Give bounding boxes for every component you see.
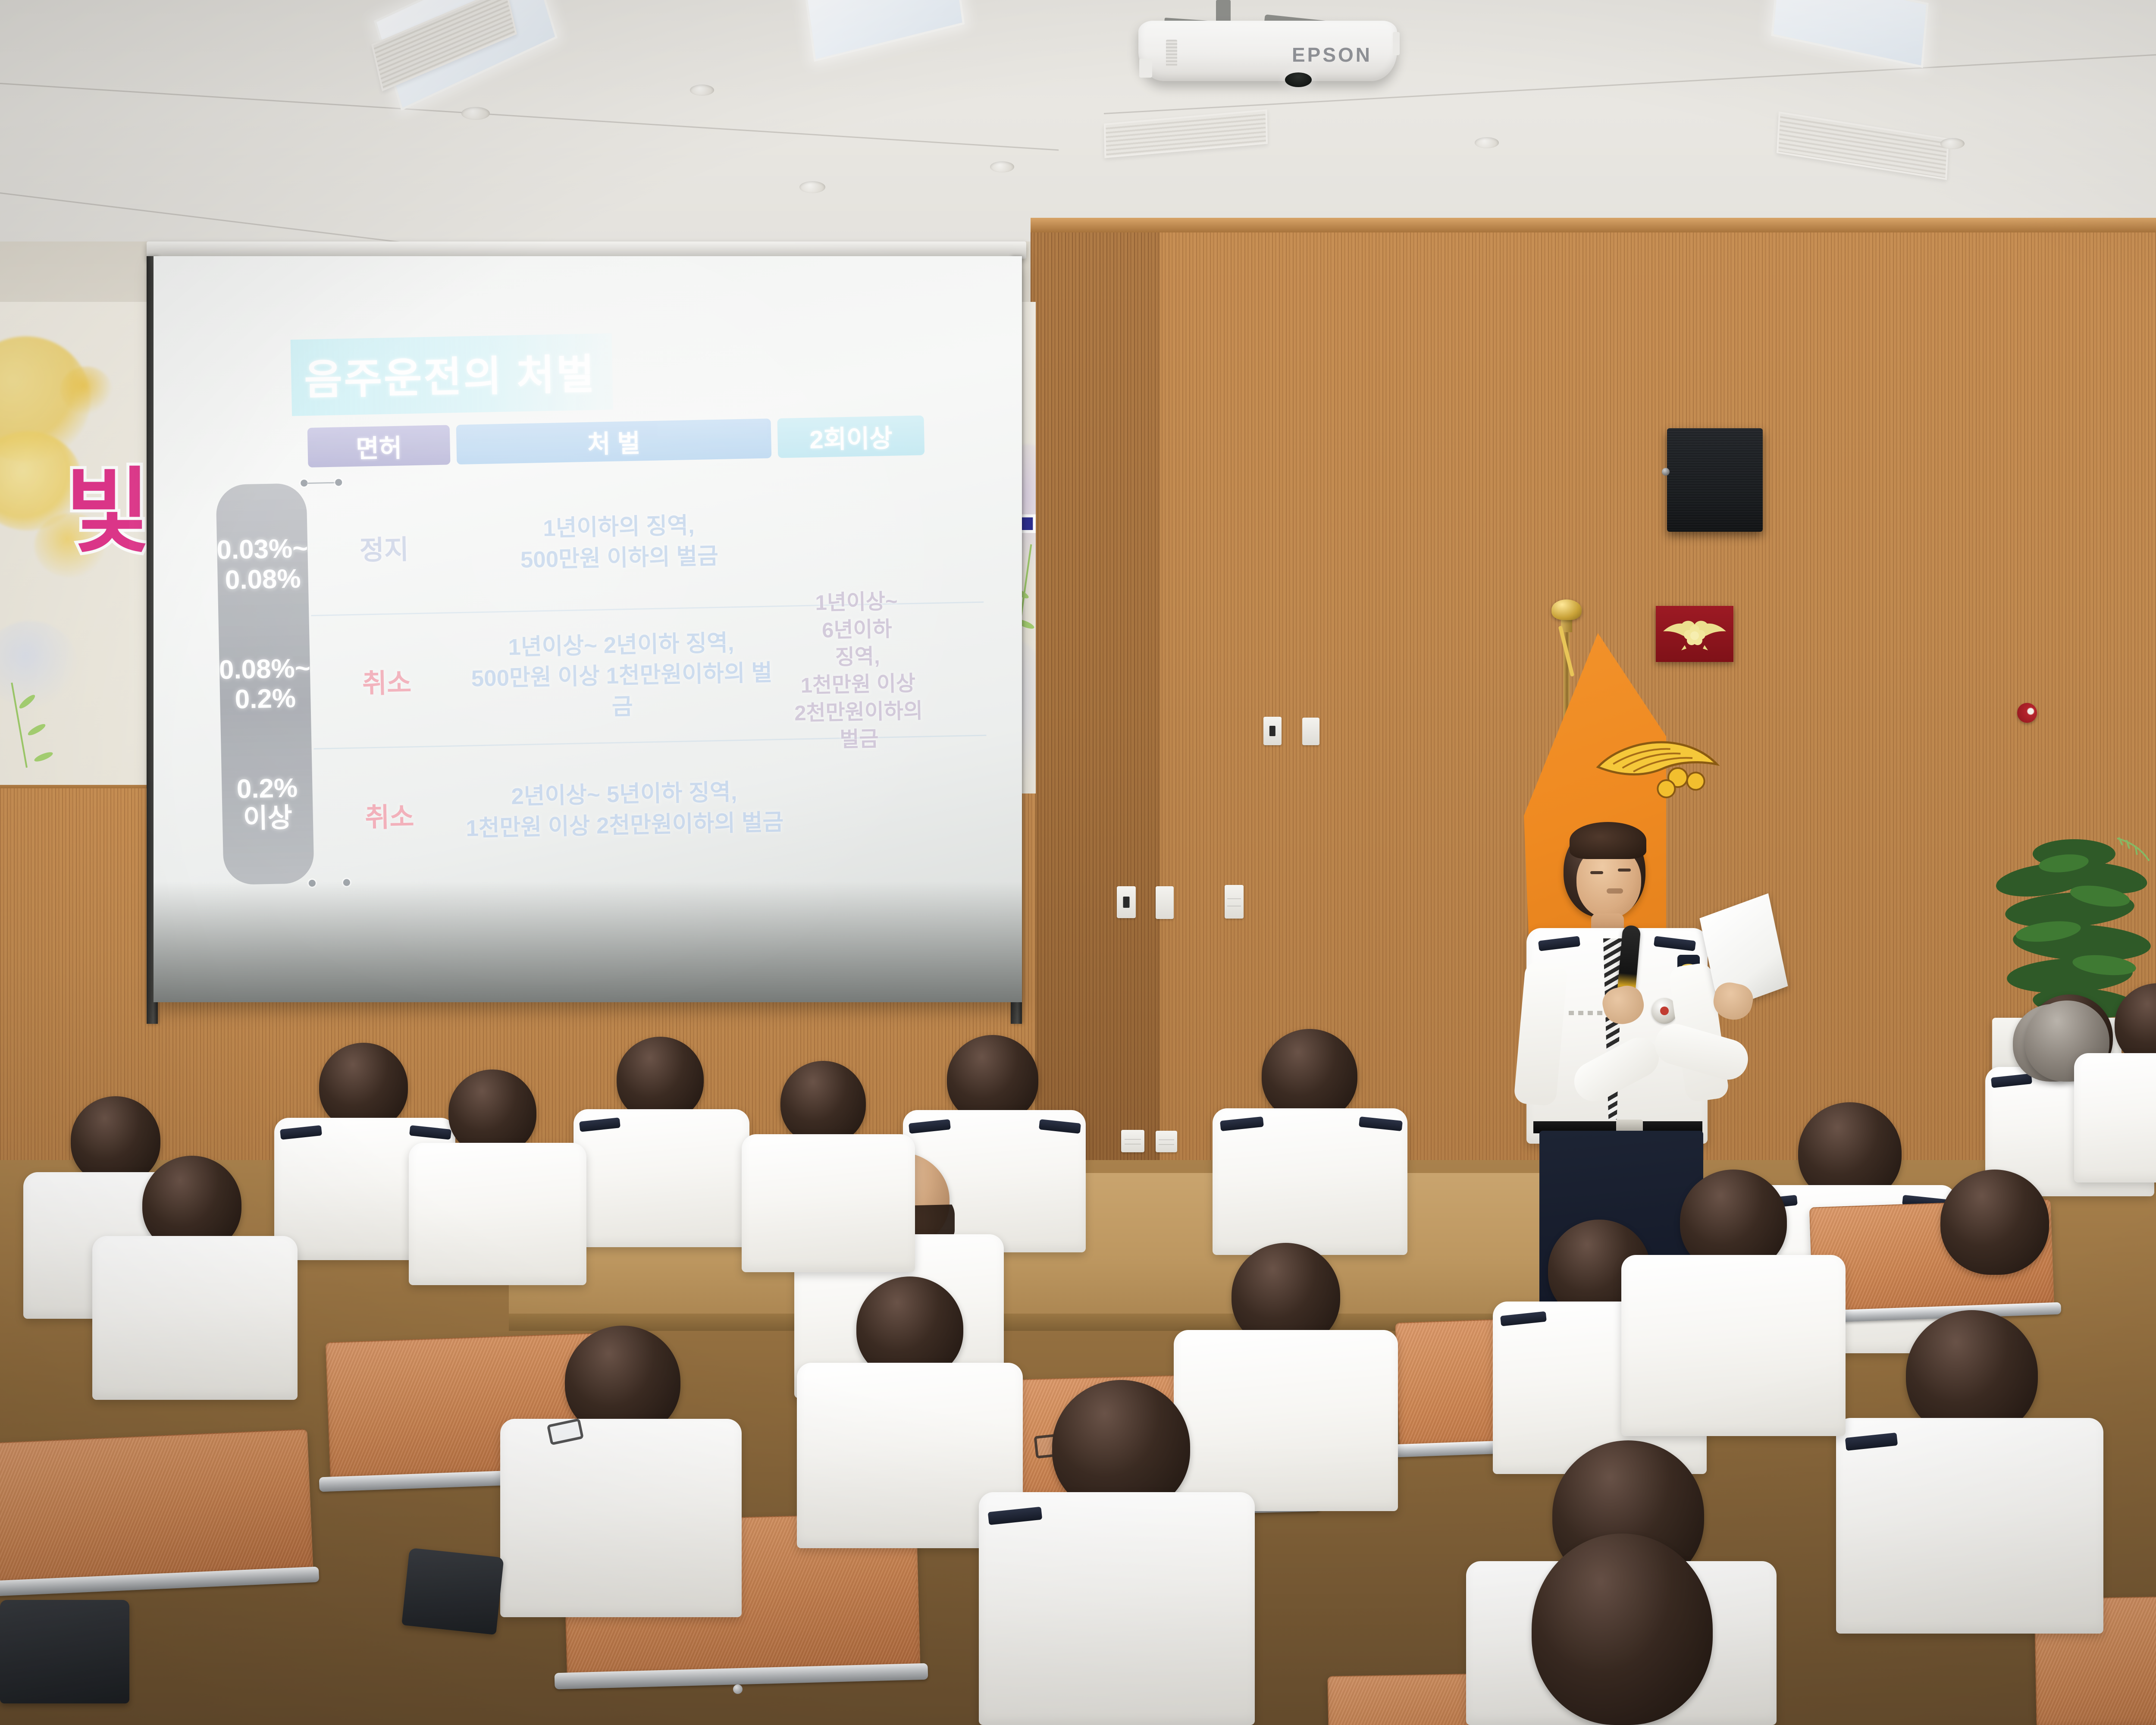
chair-adjust-knob[interactable]	[733, 1684, 743, 1694]
slide-table-header-row: 면허 처 벌 2회이상	[264, 414, 981, 468]
slide-cell-repeat	[785, 790, 936, 821]
wall-switch-plate[interactable]	[1117, 886, 1136, 918]
audience-torso	[500, 1419, 742, 1617]
audience-torso	[2074, 1053, 2156, 1182]
slide-bac-scale: 0.03%~0.08% 0.08%~0.2% 0.2%이상	[216, 483, 314, 885]
projection-screen: 음주운전의 처벌 면허 처 벌 2회이상 0.03%~0.08% 0.08%~0…	[154, 256, 1022, 1002]
projector-vent	[1166, 40, 1177, 67]
audience-torso	[1213, 1108, 1407, 1255]
speaker-mount-screw	[1662, 468, 1670, 476]
presenter-hair	[1570, 822, 1646, 859]
recessed-downlight	[799, 181, 825, 193]
mural-leaf	[33, 750, 54, 763]
recessed-downlight	[1940, 138, 1965, 149]
slide-cell-penalty: 1년이상~ 2년이하 징역,500만원 이상 1천만원이하의 벌금	[460, 627, 783, 726]
eagle-emblem-glyph	[1662, 617, 1727, 651]
audience-head	[1262, 1029, 1357, 1121]
recessed-downlight	[1475, 137, 1499, 148]
ceiling-projector: EPSON	[1138, 21, 1397, 81]
mural-text-left: 빛	[66, 466, 150, 558]
screen-shadow-gradient	[154, 881, 1022, 1002]
police-eagle-emblem-icon	[1656, 606, 1733, 662]
slide-cell-penalty: 1년이하의 징역,500만원 이하의 벌금	[458, 509, 780, 577]
slide-table-row: 취소 1년이상~ 2년이하 징역,500만원 이상 1천만원이하의 벌금 1년이…	[311, 603, 986, 750]
projector-brand-label: EPSON	[1292, 43, 1372, 66]
slide-bac-level-1: 0.03%~0.08%	[216, 533, 309, 595]
chair-backrest	[0, 1429, 313, 1586]
slide-bac-level-3: 0.2%이상	[236, 773, 298, 834]
recessed-downlight	[690, 85, 714, 96]
audience-head	[1532, 1534, 1713, 1725]
slide-cell-license: 취소	[315, 793, 464, 835]
presenter-eye	[1590, 871, 1603, 874]
audience-head	[71, 1096, 160, 1184]
presenter-mouth	[1607, 888, 1623, 894]
audience-head	[617, 1037, 704, 1121]
mural-flower-blob	[60, 367, 112, 414]
audience-torso	[92, 1236, 298, 1400]
projector-foot	[1139, 59, 1152, 78]
wall-blank-plate	[1302, 718, 1319, 745]
wall-mural-left: 빛	[0, 302, 152, 785]
audience-torso	[1836, 1418, 2103, 1634]
audience-head	[319, 1043, 408, 1130]
wall-switch-plate[interactable]	[1263, 717, 1282, 745]
wall-outlet[interactable]	[1156, 1131, 1177, 1152]
bag[interactable]	[0, 1600, 129, 1703]
slide-table: 면허 처 벌 2회이상 0.03%~0.08% 0.08%~0.2% 0.2%이…	[264, 414, 981, 468]
presenter-nameplate	[1569, 1011, 1605, 1015]
audience-torso	[409, 1143, 586, 1285]
recessed-downlight	[461, 107, 490, 120]
slide-cell-penalty: 2년이상~ 5년이하 징역,1천만원 이상 2천만원이하의 벌금	[463, 776, 786, 844]
bag[interactable]	[401, 1548, 504, 1635]
slide-cell-license: 취소	[312, 660, 462, 702]
slide-cell-license: 정지	[309, 527, 459, 568]
audience-head	[448, 1069, 536, 1155]
mural-flower-blob	[0, 621, 78, 707]
slide-bac-level-2: 0.08%~0.2%	[219, 653, 311, 715]
wood-wall-top-trim	[1031, 218, 2156, 232]
slide-col-header-repeat: 2회이상	[777, 415, 924, 458]
wall-blank-plate	[1156, 886, 1174, 919]
projector-lens-icon	[1285, 72, 1312, 87]
wall-outlet[interactable]	[1121, 1130, 1144, 1152]
wood-panel-wall-edge	[1031, 224, 1160, 1207]
flag-finial-ornament	[1551, 599, 1582, 620]
projected-slide: 음주운전의 처벌 면허 처 벌 2회이상 0.03%~0.08% 0.08%~0…	[174, 321, 1004, 885]
slide-col-header-penalty: 처 벌	[456, 418, 772, 464]
slide-cell-repeat: 1년이상~6년이하징역,1천만원 이상2천만원이하의벌금	[780, 587, 935, 755]
slide-table-body: 정지 1년이하의 징역,500만원 이하의 벌금 취소 1년이상~ 2년이하 징…	[308, 470, 989, 883]
audience-torso	[979, 1492, 1255, 1725]
presenter-eye	[1618, 869, 1631, 872]
mural-leaf	[27, 722, 47, 737]
auditorium-scene: EPSON 빛 라.	[0, 0, 2156, 1725]
wall-outlet[interactable]	[1225, 885, 1244, 919]
projector-foot	[1393, 32, 1400, 55]
audience-torso	[742, 1134, 915, 1272]
audience-torso	[1174, 1330, 1398, 1511]
slide-table-row: 취소 2년이상~ 5년이하 징역,1천만원 이상 2천만원이하의 벌금	[314, 736, 989, 883]
recessed-downlight	[990, 161, 1014, 172]
alarm-bell-icon	[2017, 703, 2037, 723]
audience-head	[1940, 1170, 2049, 1275]
audience-head	[780, 1061, 866, 1145]
slide-title: 음주운전의 처벌	[291, 333, 613, 416]
audience-torso	[1621, 1255, 1846, 1436]
slide-col-header-license: 면허	[307, 425, 451, 467]
slide-cell-repeat	[779, 523, 931, 553]
wall-speaker-icon	[1667, 428, 1763, 532]
